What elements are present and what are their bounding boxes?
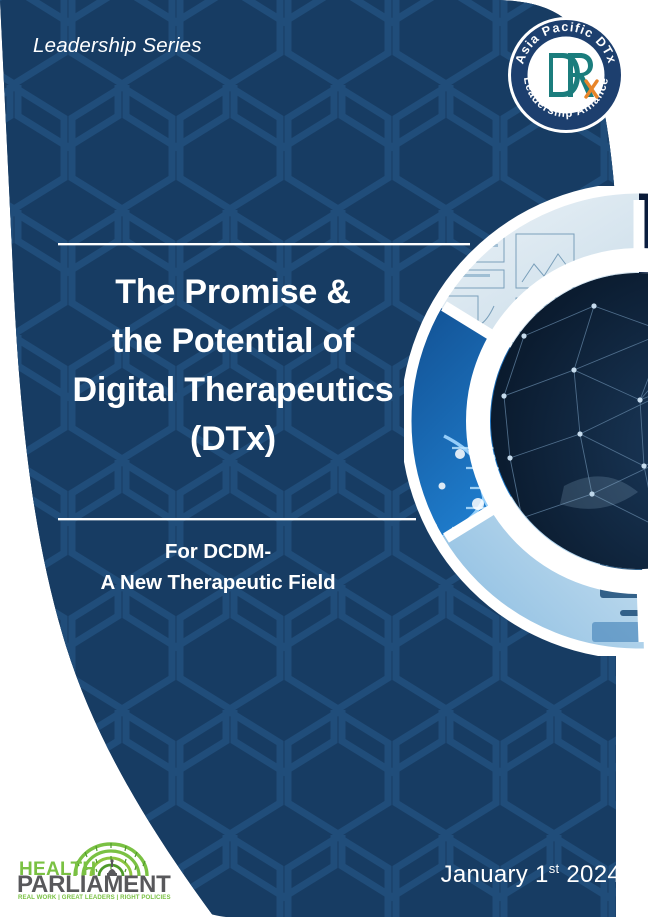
title-line-4: (DTx) (0, 415, 466, 464)
publication-date: January 1st 2024 (441, 861, 621, 889)
report-cover-page: Leadership Series The Promise & the Pote… (0, 0, 648, 917)
title-line-1: The Promise & (0, 268, 466, 317)
asia-pacific-dtx-badge[interactable]: Asia Pacific DTx Leadership Alliance (508, 17, 624, 133)
title-line-2: the Potential of (0, 317, 466, 366)
page-title: The Promise & the Potential of Digital T… (0, 268, 466, 464)
page-subtitle: For DCDM- A New Therapeutic Field (0, 536, 436, 598)
title-line-3: Digital Therapeutics (0, 366, 466, 415)
date-ordinal: st (549, 861, 560, 876)
date-month-day: January 1 (441, 861, 549, 888)
date-year: 2024 (566, 861, 621, 888)
title-rule-top (58, 243, 470, 245)
subtitle-line-2: A New Therapeutic Field (0, 567, 436, 598)
eyebrow-leadership-series: Leadership Series (33, 34, 202, 58)
title-rule-bottom (58, 518, 416, 520)
logo-tagline: REAL WORK | GREAT LEADERS | RIGHT POLICI… (18, 894, 171, 900)
subtitle-line-1: For DCDM- (0, 536, 436, 567)
health-parliament-logo[interactable]: HEALTH PARLIAMENT REAL WORK | GREAT LEAD… (13, 826, 173, 900)
